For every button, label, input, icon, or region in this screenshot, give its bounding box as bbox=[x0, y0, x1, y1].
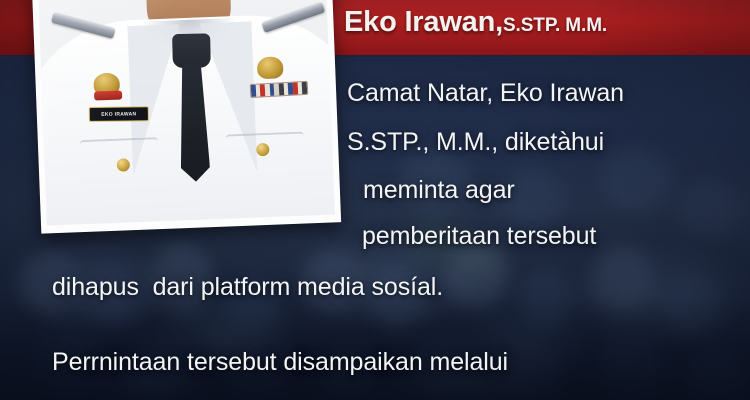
portrait-image: EKO IRAWAN bbox=[37, 0, 335, 225]
body-line-2: S.STP., M.M., diketàhui bbox=[347, 128, 604, 157]
name-tag-label: EKO IRAWAN bbox=[101, 111, 136, 117]
body-line-3: meminta agar bbox=[363, 176, 515, 205]
headline-name: Eko Irawan, bbox=[344, 6, 503, 38]
tie-knot bbox=[172, 33, 211, 68]
body-line-4: pemberitaan tersebut bbox=[362, 222, 596, 251]
body-line-1: Camat Natar, Eko Irawan bbox=[347, 79, 624, 108]
body-line-5: dihapus dari platform media sosíal. bbox=[52, 273, 443, 302]
red-badge-left bbox=[94, 90, 122, 100]
gold-emblem-right bbox=[257, 56, 284, 79]
news-graphic-poster: EKO IRAWAN Eko Irawan,S.STP. M.M. Camat … bbox=[0, 0, 750, 400]
headline-degrees: S.STP. M.M. bbox=[503, 15, 607, 36]
pocket-left bbox=[80, 137, 161, 220]
official-portrait-photo: EKO IRAWAN bbox=[31, 0, 341, 234]
body-line-6: Perrnintaan tersebut disampaikan melalui bbox=[52, 348, 508, 377]
headline: Eko Irawan,S.STP. M.M. bbox=[344, 6, 607, 39]
uniform-name-tag: EKO IRAWAN bbox=[89, 106, 149, 122]
